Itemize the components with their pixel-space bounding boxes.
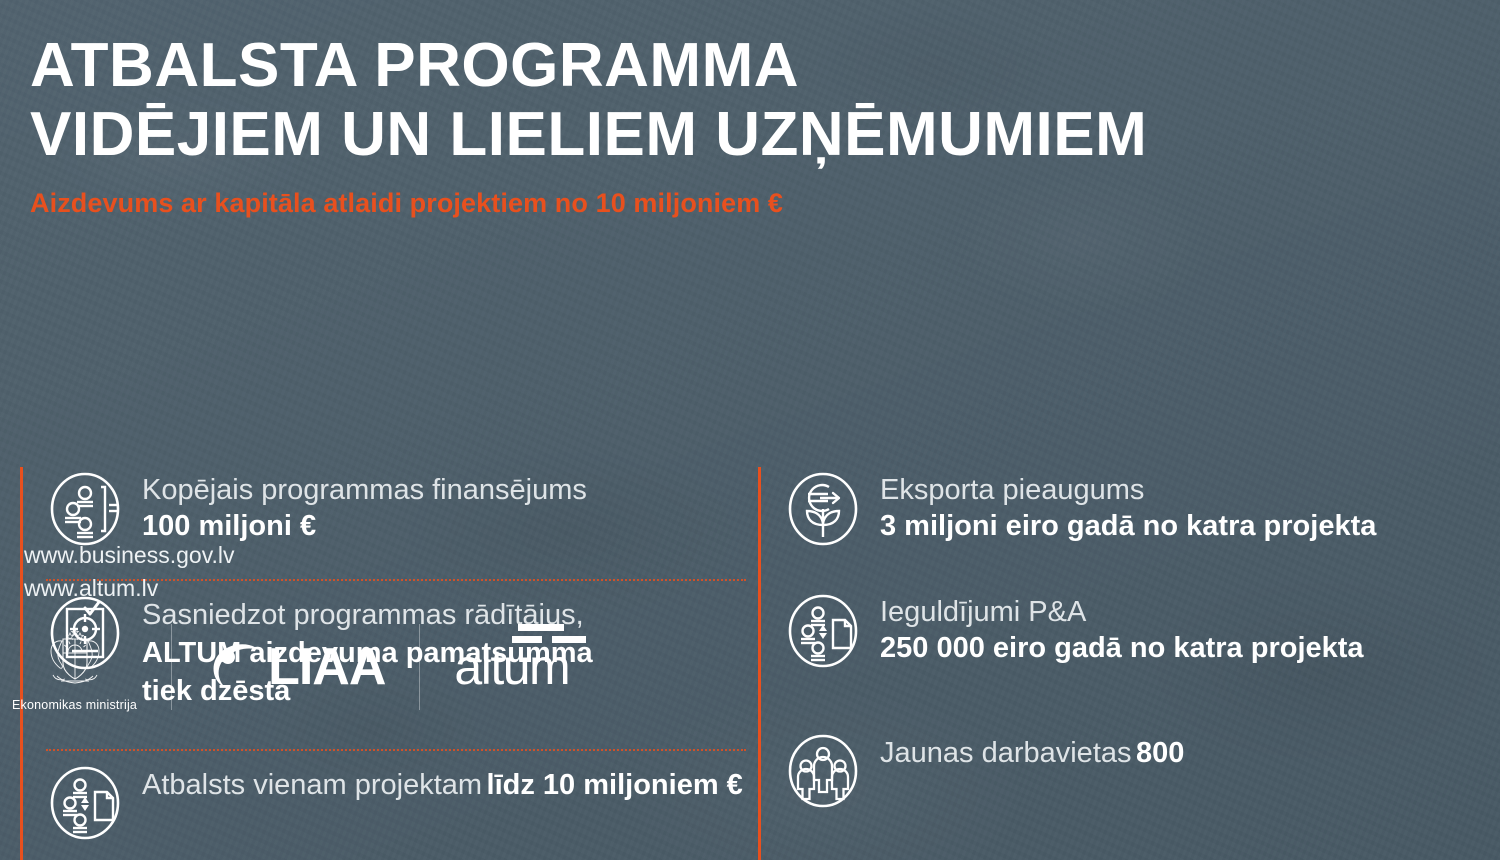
liaa-logo: LIAA xyxy=(172,615,419,719)
coat-of-arms-caption: Ekonomikas ministrija xyxy=(12,698,137,712)
row-separator xyxy=(46,749,746,751)
three-people-icon xyxy=(784,733,862,813)
liaa-logo-text: LIAA xyxy=(268,641,385,693)
stat-label: Jaunas darbavietas xyxy=(880,737,1132,769)
infographic-poster: ATBALSTA PROGRAMMA VIDĒJIEM UN LIELIEM U… xyxy=(0,0,1500,860)
footer-links: www.business.gov.lv www.altum.lv xyxy=(24,539,1500,604)
link-altum-lv[interactable]: www.altum.lv xyxy=(24,572,1500,605)
link-business-gov-lv[interactable]: www.business.gov.lv xyxy=(24,539,1500,572)
page-title-line-2: VIDĒJIEM UN LIELIEM UZŅĒMUMIEM xyxy=(30,103,1460,166)
footer-logos: Ekonomikas ministrija LIAA altum xyxy=(0,615,1478,719)
stat-texts: Eksporta pieaugums 3 miljoni eiro gadā n… xyxy=(880,471,1480,545)
altum-logo-text: altum xyxy=(454,639,569,695)
page-subtitle: Aizdevums ar kapitāla atlaidi projektiem… xyxy=(30,188,1460,219)
liaa-swoosh-icon xyxy=(206,640,264,694)
stat-texts: Atbalsts vienam projektam līdz 10 miljon… xyxy=(142,765,743,805)
page-title-line-1: ATBALSTA PROGRAMMA xyxy=(30,34,1460,97)
latvia-coat-of-arms-logo: Ekonomikas ministrija xyxy=(0,615,171,719)
stat-value: 3 miljoni eiro gadā no katra projekta xyxy=(880,510,1376,542)
stat-value: līdz 10 miljoniem € xyxy=(487,769,743,801)
liaa-logo-inner: LIAA xyxy=(206,640,385,694)
stat-value: 100 miljoni € xyxy=(142,510,316,542)
stat-label: Atbalsts vienam projektam xyxy=(142,769,482,801)
poster-header: ATBALSTA PROGRAMMA VIDĒJIEM UN LIELIEM U… xyxy=(30,34,1460,219)
coins-document-icon xyxy=(46,765,124,845)
stat-item: Atbalsts vienam projektam līdz 10 miljon… xyxy=(46,751,758,860)
stat-label: Eksporta pieaugums xyxy=(880,474,1144,506)
stat-texts: Kopējais programmas finansējums 100 milj… xyxy=(142,471,758,545)
stat-texts: Jaunas darbavietas 800 xyxy=(880,733,1184,773)
stat-item: Jaunas darbavietas 800 xyxy=(784,719,1480,829)
stat-value: 800 xyxy=(1136,737,1184,769)
altum-logo: altum xyxy=(420,615,603,719)
stat-label: Kopējais programmas finansējums xyxy=(142,474,587,506)
